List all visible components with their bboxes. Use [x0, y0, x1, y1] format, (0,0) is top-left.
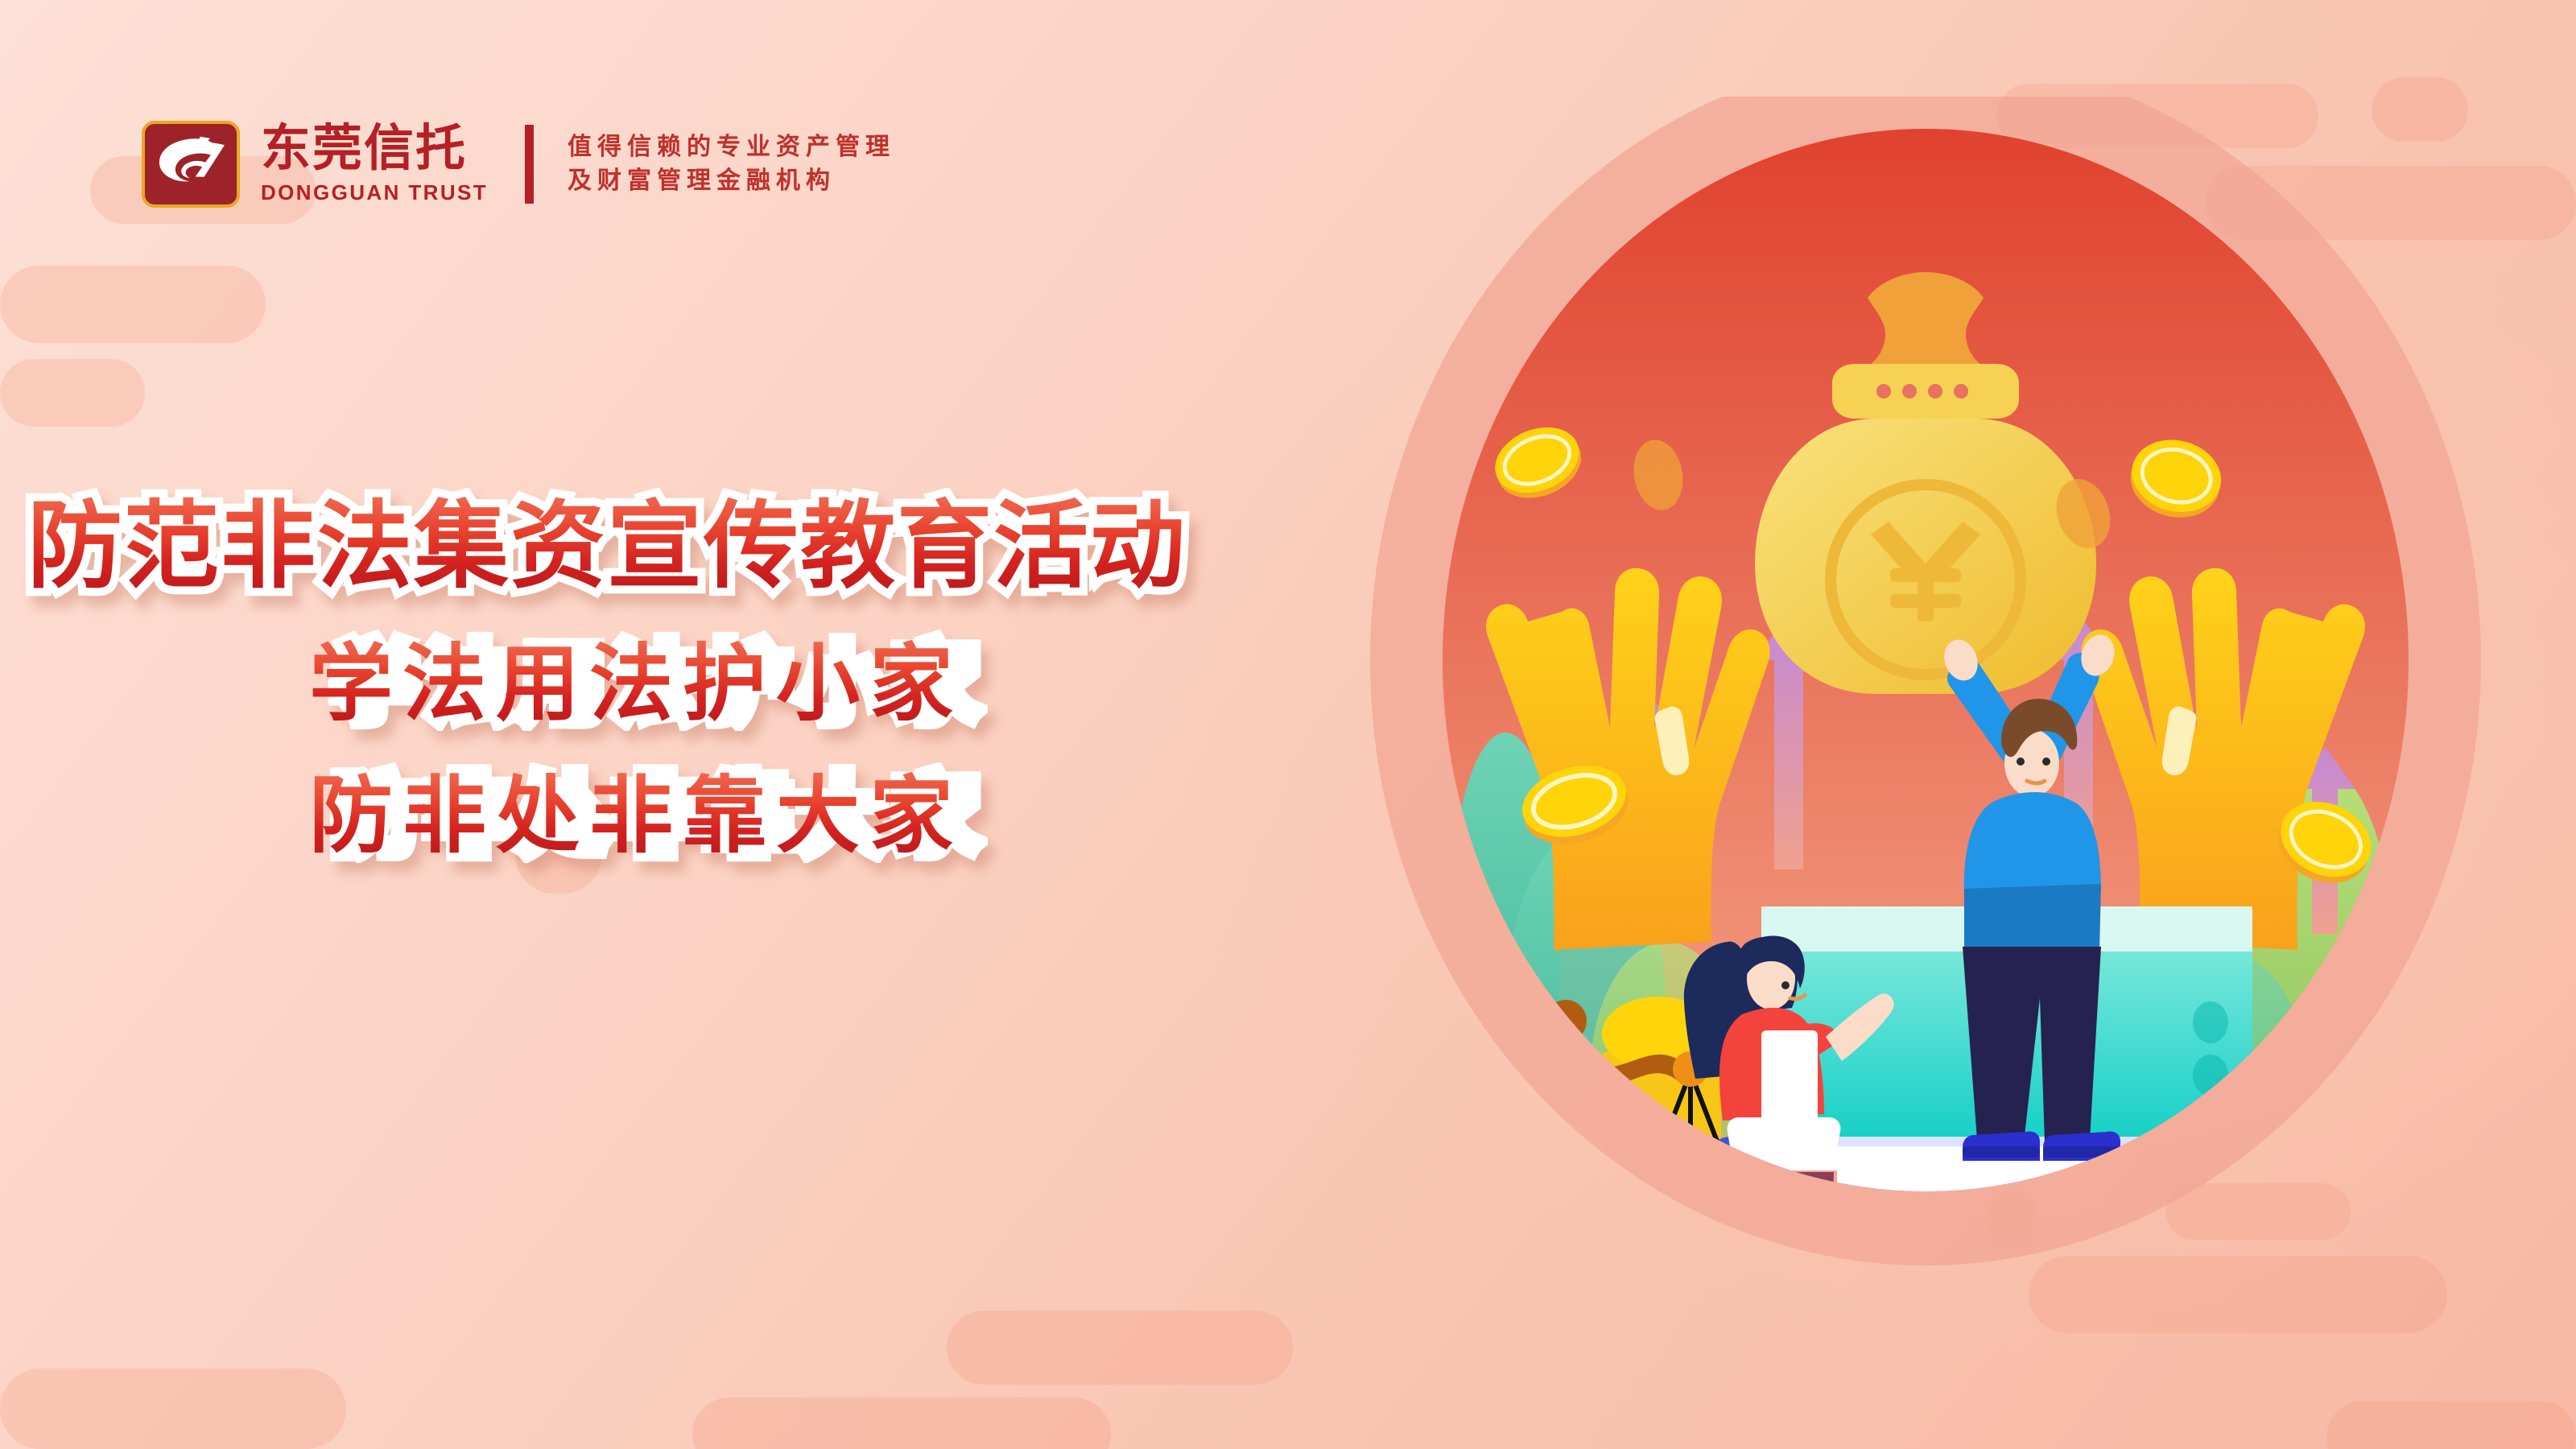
tagline-line-2: 及财富管理金融机构 — [568, 169, 895, 193]
background-pill — [0, 266, 266, 343]
background-pill — [947, 1311, 1293, 1385]
brand-name-cn: 东莞信托 — [261, 123, 488, 174]
tagline-line-1: 值得信赖的专业资产管理 — [568, 135, 895, 159]
header-divider — [525, 125, 534, 204]
dongguan-trust-swirl-logo-icon — [142, 121, 240, 208]
promotional-banner: 东莞信托 DONGGUAN TRUST 值得信赖的专业资产管理 及财富管理金融机… — [0, 0, 2576, 1449]
anti-illegal-fundraising-illustration — [1320, 97, 2528, 1352]
headline-line-2: 学法用法护小家 学法用法护小家 — [0, 642, 1320, 726]
brand-header: 东莞信托 DONGGUAN TRUST 值得信赖的专业资产管理 及财富管理金融机… — [142, 121, 895, 208]
headline-line-1: 防范非法集资宣传教育活动 防范非法集资宣传教育活动 — [27, 499, 1320, 594]
headline-line-3: 防非处非靠大家 防非处非靠大家 — [0, 774, 1320, 858]
brand-tagline: 值得信赖的专业资产管理 及财富管理金融机构 — [568, 135, 895, 193]
ground-strip — [1562, 1256, 2528, 1352]
headline-line-2-fill: 学法用法护小家 — [309, 638, 963, 731]
brand-name-en: DONGGUAN TRUST — [261, 180, 488, 205]
headline-line-1-fill: 防范非法集资宣传教育活动 — [27, 493, 1187, 600]
headline-block: 防范非法集资宣传教育活动 防范非法集资宣传教育活动 学法用法护小家 学法用法护小… — [0, 499, 1320, 858]
background-pill — [0, 359, 145, 427]
background-pill — [2326, 1401, 2576, 1449]
background-pill — [0, 1368, 346, 1449]
background-pill — [692, 1397, 1111, 1449]
brand-wordmark: 东莞信托 DONGGUAN TRUST — [261, 123, 488, 204]
headline-line-3-fill: 防非处非靠大家 — [309, 770, 963, 863]
